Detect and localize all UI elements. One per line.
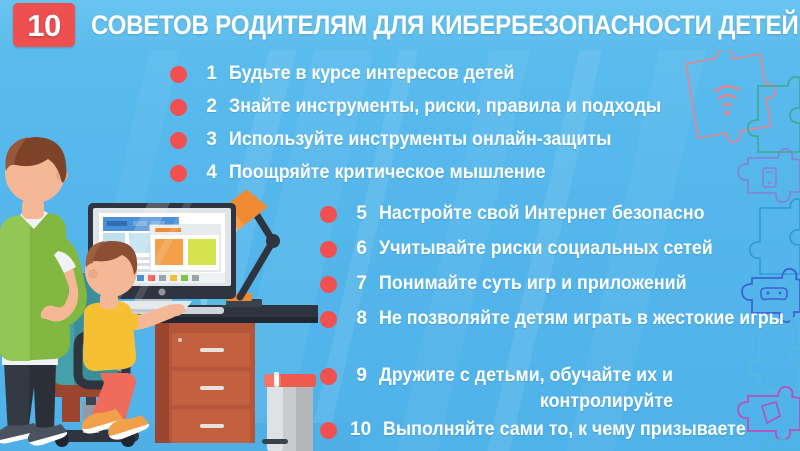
bullet-dot [320,276,337,293]
bullet-dot [320,206,337,223]
list-item-number: 8 [350,306,367,332]
list-item: 3 Используйте инструменты онлайн-защиты [170,127,636,153]
bullet-dot [320,311,337,328]
bullet-dot [320,422,337,439]
bullet-dot [170,99,187,116]
bullet-dot [170,66,187,83]
count-badge: 10 [13,3,75,47]
list-item-text-line2: контролируйте [379,389,673,415]
page-title: СОВЕТОВ РОДИТЕЛЯМ ДЛЯ КИБЕРБЕЗОПАСНОСТИ … [91,10,798,41]
list-item: 4 Поощряйте критическое мышление [170,160,566,186]
list-item-number: 5 [350,201,367,227]
list-item: 6 Учитывайте риски социальных сетей [320,236,734,262]
badge-number: 10 [27,10,60,41]
puzzle-piece-mobile-icon [738,149,800,202]
list-item-number: 1 [200,61,217,87]
bullet-dot [320,368,337,385]
list-item-number: 2 [200,94,217,120]
trash-bin [262,372,316,451]
list-item: 5 Настройте свой Интернет безопасно [320,201,725,227]
list-item-text: Выполняйте сами то, к чему призываете [383,417,746,443]
list-item-text: Настройте свой Интернет безопасно [379,201,705,227]
list-item-text: Понимайте суть игр и приложений [379,271,687,297]
list-item: 9 Дружите с детьми, обучайте их и контро… [320,363,692,415]
list-item: 8 Не позволяйте детям играть в жестокие … [320,306,800,332]
bullet-dot [170,165,187,182]
list-item-number: 7 [350,271,367,297]
list-item: 10 Выполняйте сами то, к чему призываете [320,417,769,443]
list-item-number: 10 [350,417,371,443]
list-item-text: Поощряйте критическое мышление [229,160,546,186]
list-item-text: Знайте инструменты, риски, правила и под… [229,94,661,120]
header-bar: 10 СОВЕТОВ РОДИТЕЛЯМ ДЛЯ КИБЕРБЕЗОПАСНОС… [0,0,800,50]
list-item-text: Учитывайте риски социальных сетей [379,236,713,262]
list-item-text: Будьте в курсе интересов детей [229,61,514,87]
puzzle-piece-blank [750,199,800,274]
list-item-number: 3 [200,127,217,153]
list-item-number: 4 [200,160,217,186]
list-item: 2 Знайте инструменты, риски, правила и п… [170,94,689,120]
bullet-dot [320,241,337,258]
list-item-number: 6 [350,236,367,262]
list-item-number: 9 [350,363,367,389]
list-item-text-line1: Дружите с детьми, обучайте их и [379,365,673,386]
list-item-text: Используйте инструменты онлайн-защиты [229,127,611,153]
puzzle-piece-blank [764,433,800,451]
list-item-text: Дружите с детьми, обучайте их и контроли… [379,363,673,415]
list-item: 7 Понимайте суть игр и приложений [320,271,706,297]
list-item-text: Не позволяйте детям играть в жестокие иг… [379,306,784,332]
bullet-dot [170,132,187,149]
puzzle-piece-wifi-icon [686,49,775,142]
list-item: 1 Будьте в курсе интересов детей [170,61,533,87]
infographic-canvas: 10 СОВЕТОВ РОДИТЕЛЯМ ДЛЯ КИБЕРБЕЗОПАСНОС… [0,0,800,451]
